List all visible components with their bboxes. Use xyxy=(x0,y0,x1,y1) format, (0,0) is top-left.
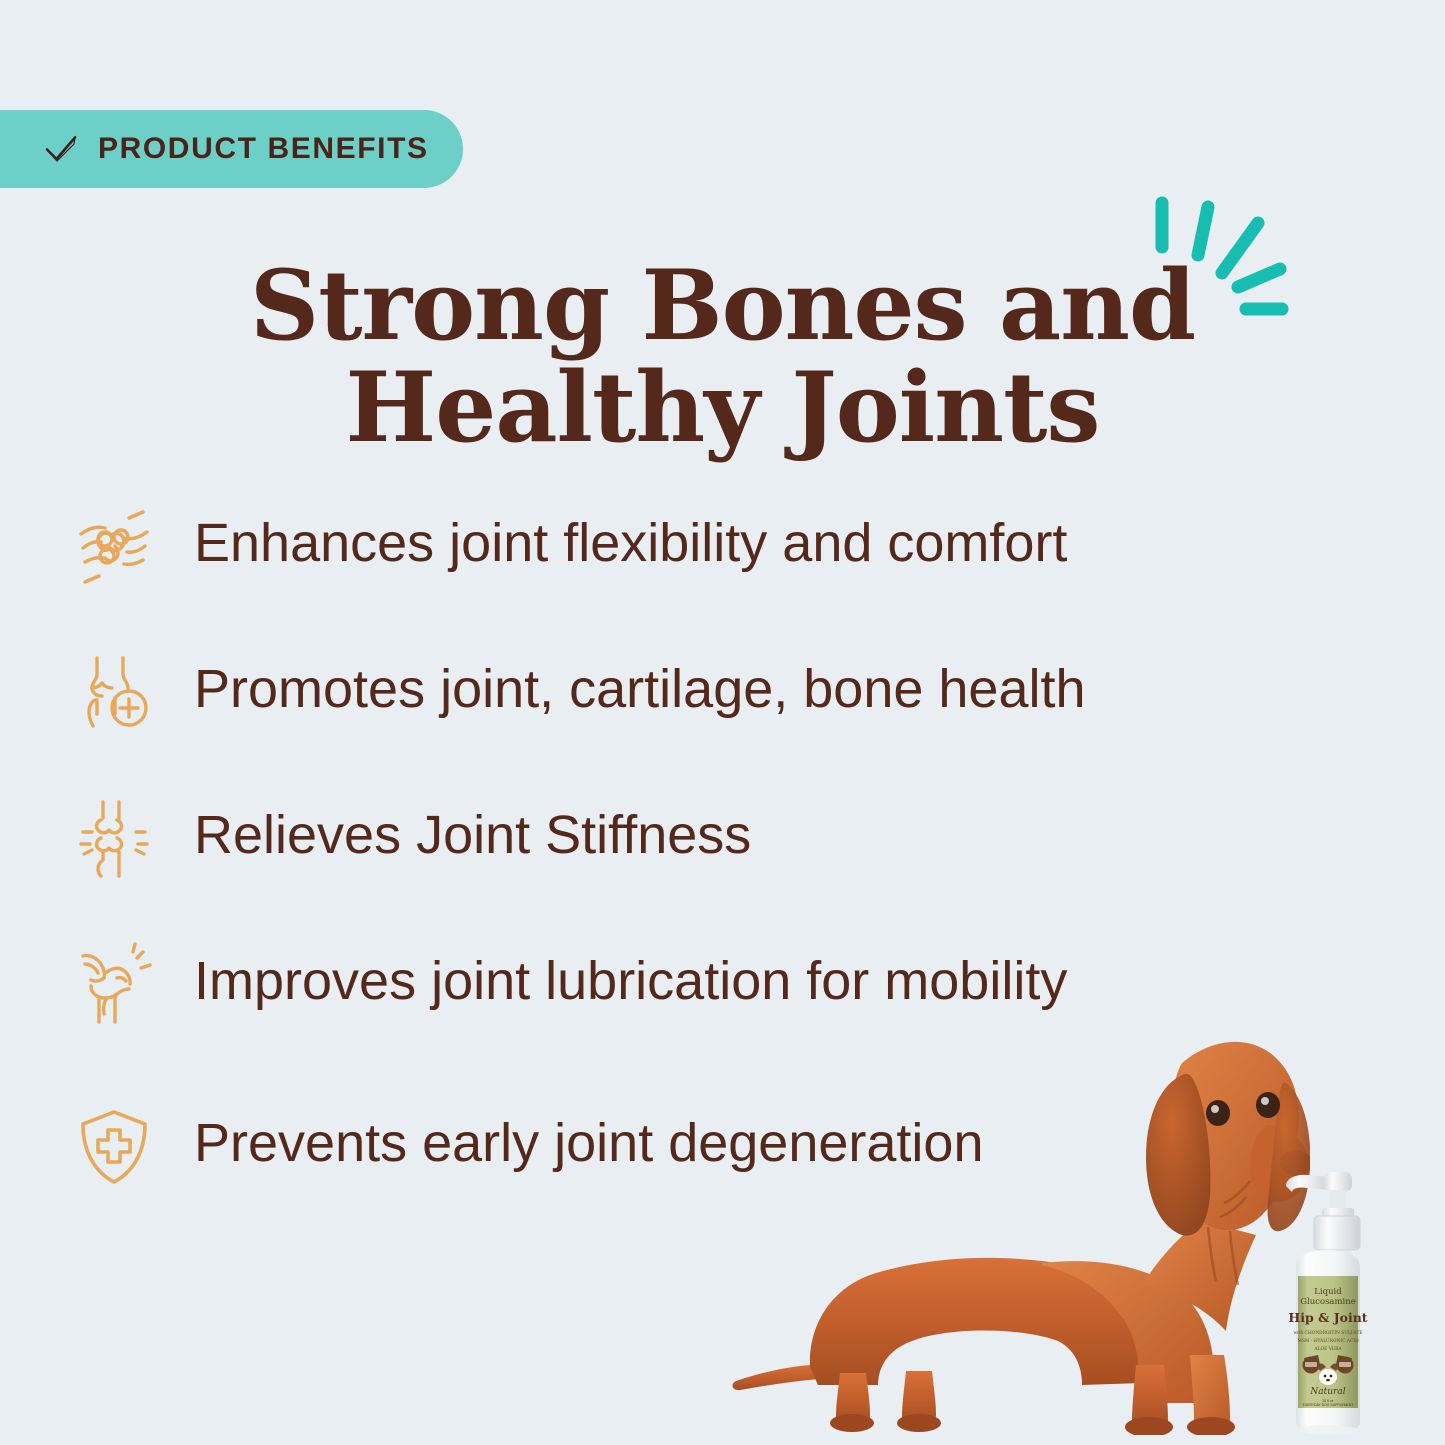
benefit-item: Relieves Joint Stiffness xyxy=(60,792,1275,902)
check-icon xyxy=(44,132,78,166)
benefit-item: Promotes joint, cartilage, bone health xyxy=(60,646,1275,756)
product-benefits-badge: PRODUCT BENEFITS xyxy=(0,110,463,188)
headline-line-1: Strong Bones and xyxy=(250,249,1195,362)
joint-cartilage-bone-icon xyxy=(60,646,168,736)
pump-spout xyxy=(1286,1175,1330,1192)
joint-stiffness-icon xyxy=(60,792,168,882)
joint-lubrication-icon xyxy=(60,938,168,1028)
benefit-text: Enhances joint flexibility and comfort xyxy=(194,500,1067,575)
product-benefits-label: PRODUCT BENEFITS xyxy=(98,132,429,166)
joint-flexibility-icon xyxy=(60,500,168,590)
headline-line-2: Healthy Joints xyxy=(200,357,1245,459)
page-title: Strong Bones and Healthy Joints xyxy=(0,255,1445,459)
benefit-text: Promotes joint, cartilage, bone health xyxy=(194,646,1086,721)
benefit-text: Relieves Joint Stiffness xyxy=(194,792,751,867)
product-bottle: Liquid Glucosamine Hip & Joint with CHON… xyxy=(1274,1168,1382,1440)
shield-cross-icon xyxy=(60,1100,168,1190)
benefit-item: Enhances joint flexibility and comfort xyxy=(60,500,1275,610)
dachshund-dog-photo xyxy=(690,935,1310,1435)
